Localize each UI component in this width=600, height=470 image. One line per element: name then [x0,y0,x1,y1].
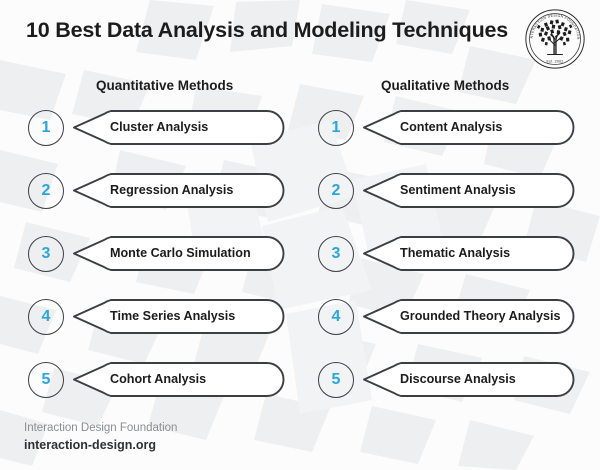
item-bubble[interactable]: Grounded Theory Analysis [364,293,580,340]
item-number: 2 [332,183,341,199]
item-label: Thematic Analysis [400,230,568,277]
item-number: 1 [332,120,341,136]
list-item[interactable]: 5 Cohort Analysis [28,356,290,419]
list-item[interactable]: 4 Time Series Analysis [28,293,290,356]
item-number: 4 [332,309,341,325]
interaction-design-foundation-logo-icon: INTERACTION DESIGN FOUNDATION Est. 2002 [524,8,586,70]
item-bubble[interactable]: Cohort Analysis [74,356,290,403]
column-heading-qualitative: Qualitative Methods [381,78,509,93]
footer: Interaction Design Foundation interactio… [24,420,177,454]
item-number: 4 [42,309,51,325]
list-item[interactable]: 3 Monte Carlo Simulation [28,230,290,293]
footer-organization: Interaction Design Foundation [24,420,177,437]
item-number: 3 [42,246,51,262]
item-bubble[interactable]: Regression Analysis [74,167,290,214]
infographic-poster: 10 Best Data Analysis and Modeling Techn… [0,0,600,470]
item-number: 1 [42,120,51,136]
item-label: Regression Analysis [110,167,278,214]
item-bubble[interactable]: Sentiment Analysis [364,167,580,214]
svg-text:Est. 2002: Est. 2002 [547,60,564,64]
item-bubble[interactable]: Content Analysis [364,104,580,151]
list-item[interactable]: 2 Regression Analysis [28,167,290,230]
item-label: Monte Carlo Simulation [110,230,278,277]
item-number: 3 [332,246,341,262]
item-bubble[interactable]: Time Series Analysis [74,293,290,340]
item-number-badge: 5 [318,362,354,398]
footer-website[interactable]: interaction-design.org [24,437,177,455]
list-item[interactable]: 1 Content Analysis [318,104,580,167]
list-item[interactable]: 3 Thematic Analysis [318,230,580,293]
item-number-badge: 1 [28,110,64,146]
item-number: 5 [42,372,51,388]
list-item[interactable]: 5 Discourse Analysis [318,356,580,419]
item-label: Time Series Analysis [110,293,278,340]
item-label: Grounded Theory Analysis [400,293,568,340]
item-bubble[interactable]: Cluster Analysis [74,104,290,151]
list-item[interactable]: 2 Sentiment Analysis [318,167,580,230]
item-number: 5 [332,372,341,388]
quantitative-methods-column: 1 Cluster Analysis 2 Regression Analysis [28,104,290,419]
item-bubble[interactable]: Thematic Analysis [364,230,580,277]
item-number-badge: 2 [318,173,354,209]
item-number-badge: 4 [28,299,64,335]
page-title: 10 Best Data Analysis and Modeling Techn… [26,18,496,43]
item-label: Content Analysis [400,104,568,151]
item-label: Cohort Analysis [110,356,278,403]
item-number-badge: 3 [318,236,354,272]
item-number: 2 [42,183,51,199]
item-bubble[interactable]: Monte Carlo Simulation [74,230,290,277]
qualitative-methods-column: 1 Content Analysis 2 Sentiment Analysis [318,104,580,419]
item-number-badge: 1 [318,110,354,146]
item-number-badge: 4 [318,299,354,335]
item-label: Cluster Analysis [110,104,278,151]
list-item[interactable]: 4 Grounded Theory Analysis [318,293,580,356]
item-bubble[interactable]: Discourse Analysis [364,356,580,403]
item-number-badge: 3 [28,236,64,272]
column-heading-quantitative: Quantitative Methods [96,78,233,93]
item-number-badge: 2 [28,173,64,209]
item-label: Sentiment Analysis [400,167,568,214]
item-number-badge: 5 [28,362,64,398]
item-label: Discourse Analysis [400,356,568,403]
list-item[interactable]: 1 Cluster Analysis [28,104,290,167]
